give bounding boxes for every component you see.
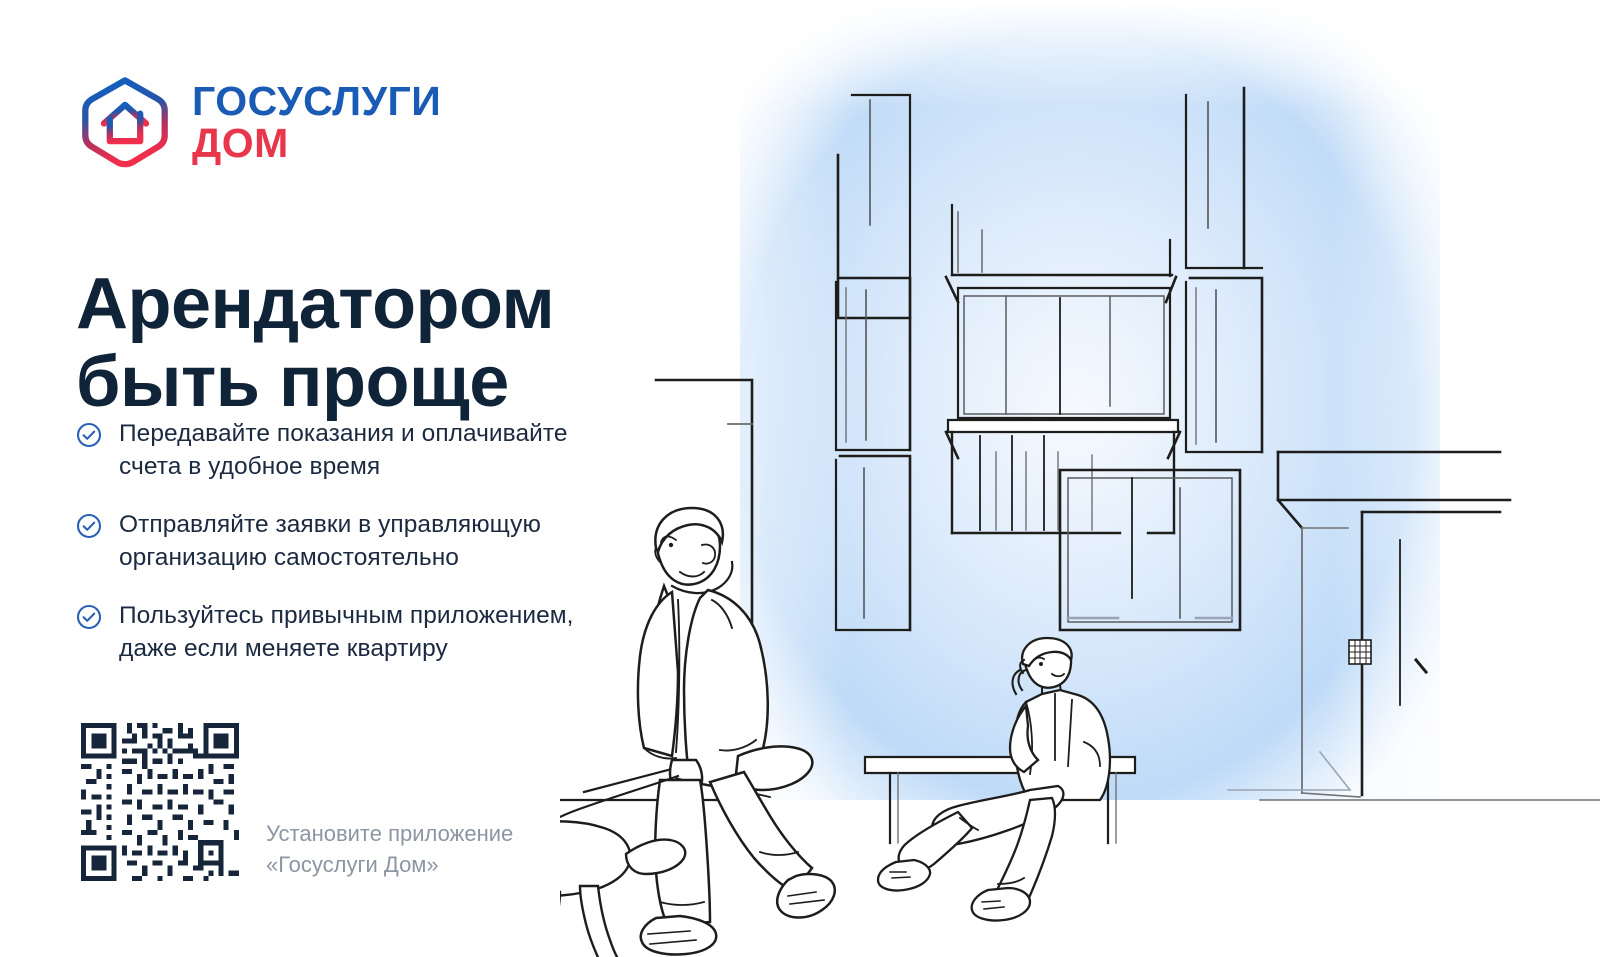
brand-word-top: ГОСУСЛУГИ [192, 82, 441, 122]
benefit-text: Отправляйте заявки в управляющую организ… [119, 509, 541, 574]
check-circle-icon [76, 513, 102, 539]
house-hexagon-logo-icon [76, 74, 174, 172]
content-column: ГОСУСЛУГИ ДОМ Арендатором быть проще Пер… [0, 0, 640, 957]
brand-wordmark: ГОСУСЛУГИ ДОМ [192, 82, 441, 164]
benefit-line-1: Передавайте показания и оплачивайте [119, 420, 568, 447]
benefit-text: Пользуйтесь привычным приложением, даже … [119, 600, 574, 665]
benefits-list: Передавайте показания и оплачивайте счет… [76, 418, 621, 665]
benefit-text: Передавайте показания и оплачивайте счет… [119, 418, 568, 483]
benefit-line-1: Пользуйтесь привычным приложением, [119, 602, 574, 629]
qr-code[interactable] [76, 718, 244, 886]
headline-line-1: Арендатором [76, 266, 636, 344]
check-circle-icon [76, 604, 102, 630]
check-circle-icon [76, 422, 102, 448]
page-title: Арендатором быть проще [76, 266, 636, 422]
app-install-block: Установите приложение «Госуслуги Дом» [76, 718, 566, 886]
benefit-line-2: счета в удобное время [119, 453, 380, 480]
qr-caption-line-2: «Госуслуги Дом» [266, 850, 566, 880]
promo-poster: ГОСУСЛУГИ ДОМ Арендатором быть проще Пер… [0, 0, 1600, 957]
benefit-line-2: даже если меняете квартиру [119, 635, 448, 662]
list-item: Передавайте показания и оплачивайте счет… [76, 418, 621, 483]
benefit-line-1: Отправляйте заявки в управляющую [119, 511, 541, 538]
brand-logo[interactable]: ГОСУСЛУГИ ДОМ [76, 74, 441, 172]
qr-caption: Установите приложение «Госуслуги Дом» [266, 819, 566, 886]
benefit-line-2: организацию самостоятельно [119, 544, 459, 571]
qr-caption-line-1: Установите приложение [266, 819, 566, 849]
list-item: Пользуйтесь привычным приложением, даже … [76, 600, 621, 665]
apartment-building-courtyard-illustration [560, 0, 1600, 957]
headline-line-2: быть проще [76, 344, 636, 422]
brand-word-bottom: ДОМ [192, 124, 441, 164]
list-item: Отправляйте заявки в управляющую организ… [76, 509, 621, 574]
